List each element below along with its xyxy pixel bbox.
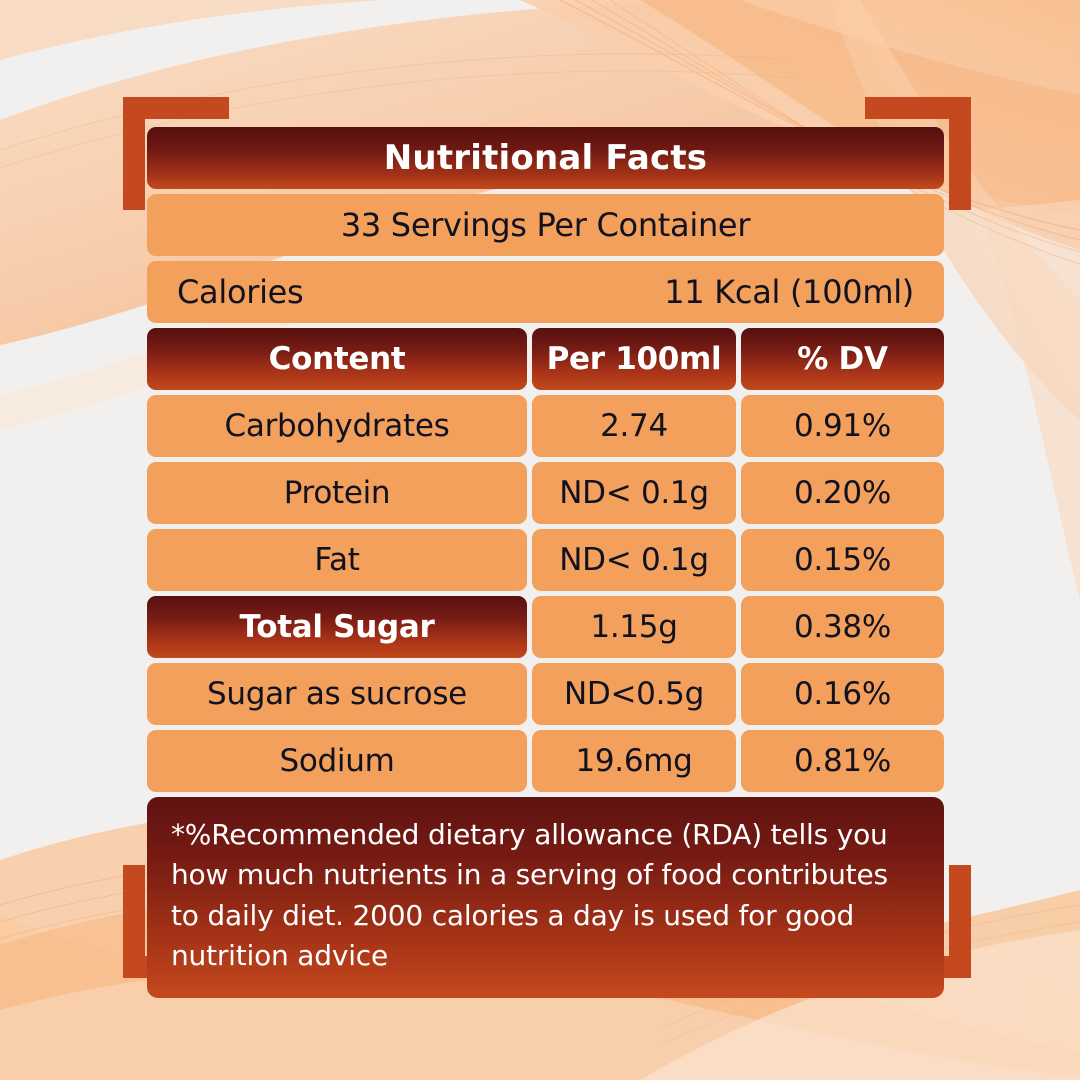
nutrient-percent-dv-cell: 0.81%: [741, 730, 944, 792]
nutrient-name-cell: Carbohydrates: [147, 395, 527, 457]
nutrient-per-100ml-cell: 1.15g: [532, 596, 736, 658]
bracket-arm-vertical: [123, 865, 145, 978]
nutrient-percent-dv-cell: 0.20%: [741, 462, 944, 524]
calories-row: Calories 11 Kcal (100ml): [147, 261, 944, 323]
servings-per-container: 33 Servings Per Container: [147, 194, 944, 256]
column-header-percent-dv: % DV: [741, 328, 944, 390]
nutrition-label-poster: Nutritional Facts 33 Servings Per Contai…: [0, 0, 1080, 1080]
nutrition-facts-card: Nutritional Facts 33 Servings Per Contai…: [147, 127, 944, 998]
nutrient-percent-dv-cell: 0.15%: [741, 529, 944, 591]
nutrient-name-cell: Protein: [147, 462, 527, 524]
nutrient-percent-dv-cell: 0.16%: [741, 663, 944, 725]
column-header-content: Content: [147, 328, 527, 390]
calories-value: 11 Kcal (100ml): [664, 276, 914, 308]
table-row: Total Sugar1.15g0.38%: [147, 596, 944, 658]
servings-row: 33 Servings Per Container: [147, 194, 944, 256]
nutrient-name-cell: Sodium: [147, 730, 527, 792]
page-title: Nutritional Facts: [147, 127, 944, 189]
table-row: FatND< 0.1g0.15%: [147, 529, 944, 591]
nutrient-per-100ml-cell: ND< 0.1g: [532, 529, 736, 591]
bracket-arm-vertical: [123, 97, 145, 210]
nutrient-per-100ml-cell: ND< 0.1g: [532, 462, 736, 524]
column-header-per-100ml: Per 100ml: [532, 328, 736, 390]
rda-footnote: *%Recommended dietary allowance (RDA) te…: [147, 797, 944, 998]
table-row: ProteinND< 0.1g0.20%: [147, 462, 944, 524]
title-row: Nutritional Facts: [147, 127, 944, 189]
nutrient-rows-container: Carbohydrates2.740.91%ProteinND< 0.1g0.2…: [147, 395, 944, 792]
table-row: Sugar as sucroseND<0.5g0.16%: [147, 663, 944, 725]
table-row: Carbohydrates2.740.91%: [147, 395, 944, 457]
nutrient-name-cell: Total Sugar: [147, 596, 527, 658]
nutrient-percent-dv-cell: 0.91%: [741, 395, 944, 457]
bracket-arm-vertical: [949, 97, 971, 210]
table-header-row: Content Per 100ml % DV: [147, 328, 944, 390]
nutrient-name-cell: Fat: [147, 529, 527, 591]
nutrient-per-100ml-cell: 2.74: [532, 395, 736, 457]
nutrient-percent-dv-cell: 0.38%: [741, 596, 944, 658]
table-row: Sodium19.6mg0.81%: [147, 730, 944, 792]
nutrient-per-100ml-cell: ND<0.5g: [532, 663, 736, 725]
calories-label: Calories: [177, 276, 303, 308]
calories-cell: Calories 11 Kcal (100ml): [147, 261, 944, 323]
bracket-arm-vertical: [949, 865, 971, 978]
nutrient-per-100ml-cell: 19.6mg: [532, 730, 736, 792]
nutrient-name-cell: Sugar as sucrose: [147, 663, 527, 725]
